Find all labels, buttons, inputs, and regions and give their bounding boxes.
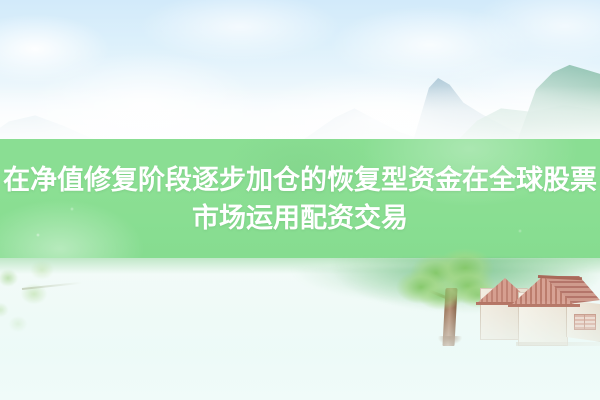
- banner-title: 在净值修复阶段逐步加仓的恢复型资金在全球股票 市场运用配资交易: [0, 139, 600, 258]
- ground-background: [0, 258, 600, 400]
- landscape-banner: 在净值修复阶段逐步加仓的恢复型资金在全球股票 市场运用配资交易: [0, 0, 600, 400]
- title-line-1: 在净值修复阶段逐步加仓的恢复型资金在全球股票: [3, 161, 597, 199]
- title-line-2: 市场运用配资交易: [192, 199, 408, 237]
- sky-background: [0, 0, 600, 140]
- title-band: 在净值修复阶段逐步加仓的恢复型资金在全球股票 市场运用配资交易: [0, 139, 600, 258]
